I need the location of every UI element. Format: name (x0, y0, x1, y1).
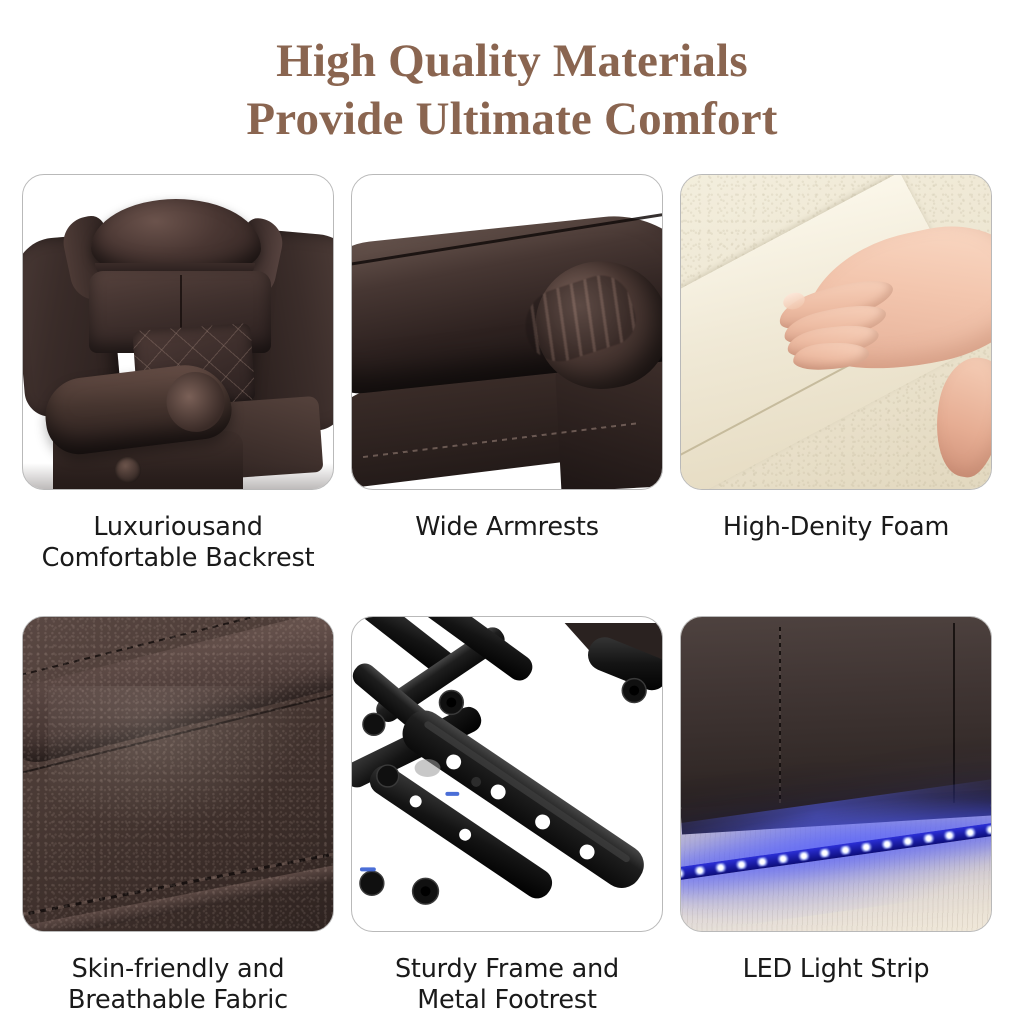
caption-line-1: High-Denity Foam (680, 512, 992, 543)
feature-card-backrest: Luxuriousand Comfortable Backrest (22, 174, 334, 574)
feature-card-led: LED Light Strip (680, 616, 992, 1016)
caption-line-1: LED Light Strip (680, 954, 992, 985)
feature-caption-frame: Sturdy Frame and Metal Footrest (351, 954, 663, 1016)
feature-caption-led: LED Light Strip (680, 954, 992, 985)
feature-card-foam: High-Denity Foam (680, 174, 992, 574)
feature-image-backrest (22, 174, 334, 490)
feature-card-fabric: Skin-friendly and Breathable Fabric (22, 616, 334, 1016)
page-title-line-1: High Quality Materials (0, 32, 1024, 90)
feature-image-frame (351, 616, 663, 932)
caption-line-1: Wide Armrests (351, 512, 663, 543)
feature-image-foam (680, 174, 992, 490)
led-light-strip-photo (681, 617, 991, 931)
armrest-photo (352, 175, 662, 489)
page-title-line-2: Provide Ultimate Comfort (0, 90, 1024, 148)
infographic-page: High Quality Materials Provide Ultimate … (0, 0, 1024, 1024)
feature-caption-armrests: Wide Armrests (351, 512, 663, 543)
caption-line-2: Comfortable Backrest (22, 543, 334, 574)
feature-card-armrests: Wide Armrests (351, 174, 663, 574)
recliner-backrest-photo (23, 175, 333, 489)
leather-texture-photo (23, 617, 333, 931)
caption-line-1: Sturdy Frame and (351, 954, 663, 985)
feature-image-led (680, 616, 992, 932)
feature-card-frame: Sturdy Frame and Metal Footrest (351, 616, 663, 1016)
feature-caption-fabric: Skin-friendly and Breathable Fabric (22, 954, 334, 1016)
page-title: High Quality Materials Provide Ultimate … (0, 32, 1024, 149)
caption-line-1: Skin-friendly and (22, 954, 334, 985)
feature-grid: Luxuriousand Comfortable Backrest Wide A… (22, 174, 1002, 1016)
feature-caption-foam: High-Denity Foam (680, 512, 992, 543)
feature-image-armrests (351, 174, 663, 490)
feature-image-fabric (22, 616, 334, 932)
caption-line-1: Luxuriousand (22, 512, 334, 543)
caption-line-2: Metal Footrest (351, 985, 663, 1016)
caption-line-2: Breathable Fabric (22, 985, 334, 1016)
high-density-foam-photo (681, 175, 991, 489)
feature-caption-backrest: Luxuriousand Comfortable Backrest (22, 512, 334, 574)
metal-frame-photo (352, 617, 662, 931)
